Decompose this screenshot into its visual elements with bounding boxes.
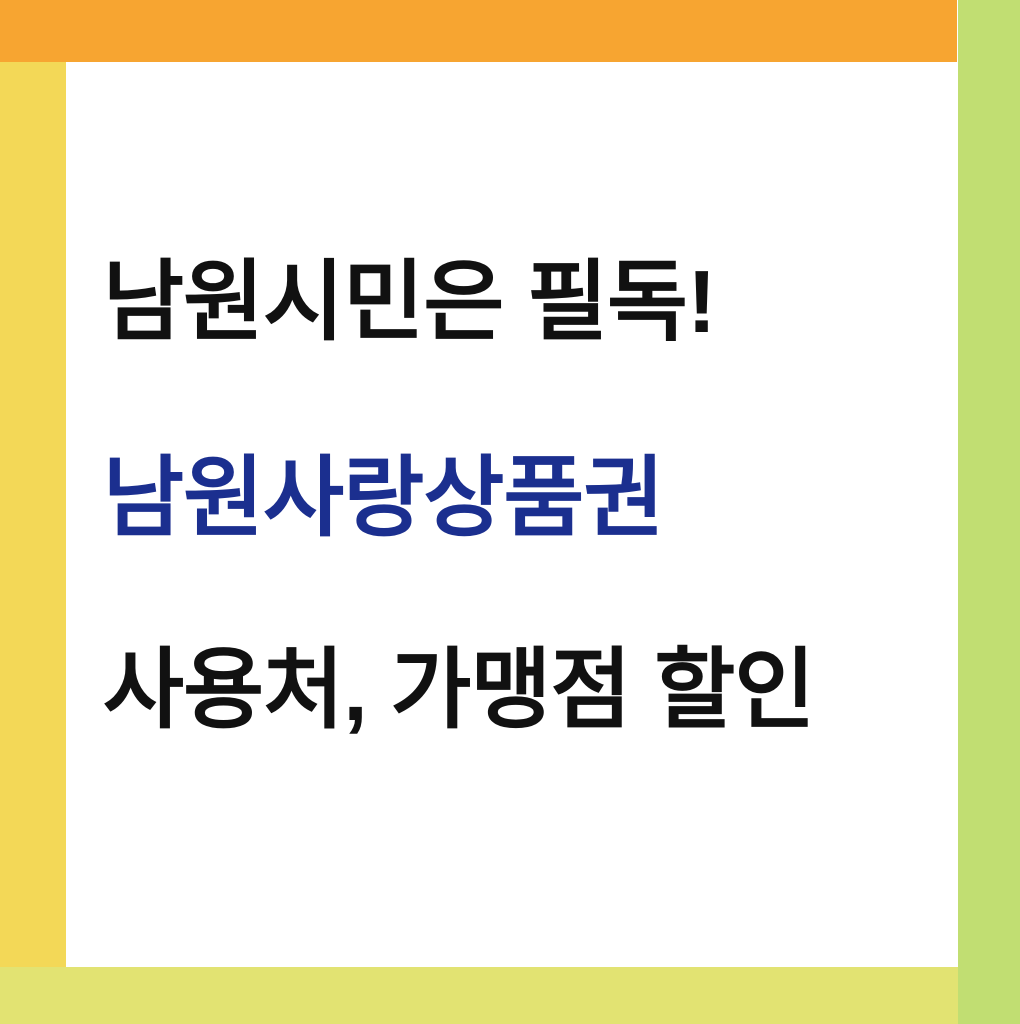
frame-band-left	[0, 62, 66, 968]
content-card: 남원시민은 필독! 남원사랑상품권 사용처, 가맹점 할인	[66, 62, 958, 967]
headline-line-3: 사용처, 가맹점 할인	[103, 646, 923, 734]
headline-line-2-brand: 남원사랑상품권	[103, 454, 923, 542]
frame-band-bottom	[0, 967, 958, 1024]
promo-poster: 남원시민은 필독! 남원사랑상품권 사용처, 가맹점 할인	[0, 0, 1020, 1024]
headline-line-1: 남원시민은 필독!	[103, 258, 923, 346]
frame-band-right	[958, 0, 1020, 1024]
frame-band-top	[0, 0, 957, 62]
headline-stack: 남원시민은 필독! 남원사랑상품권 사용처, 가맹점 할인	[103, 258, 923, 734]
